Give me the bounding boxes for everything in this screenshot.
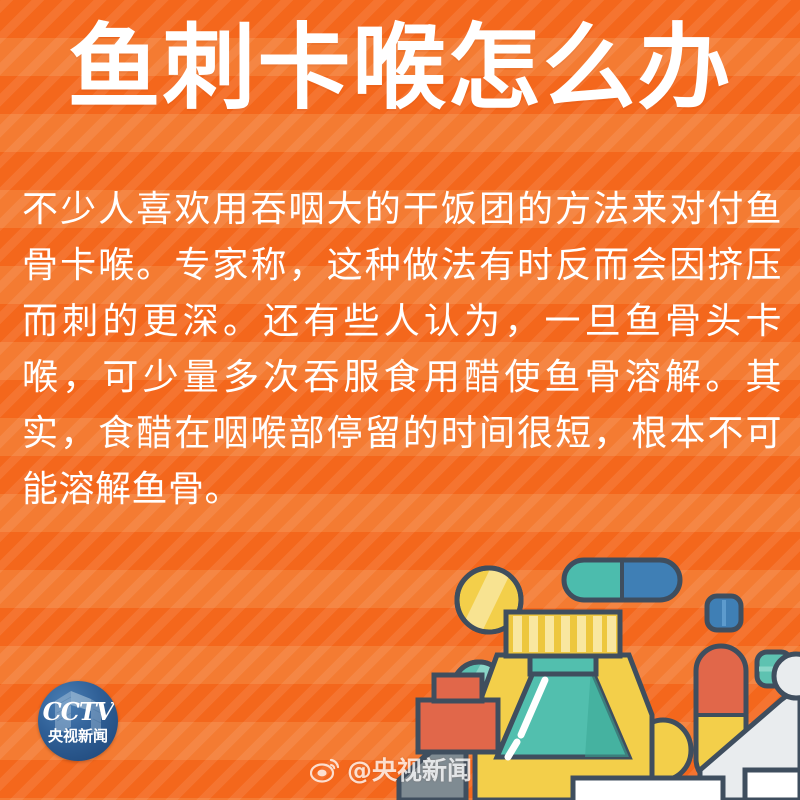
cctv-logo-en: CCTV — [43, 700, 114, 724]
tablet-square-blue — [707, 596, 741, 630]
body-paragraph: 不少人喜欢用吞咽大的干饭团的方法来对付鱼骨卡喉。专家称，这种做法有时反而会因挤压… — [22, 182, 782, 518]
weibo-handle: @央视新闻 — [347, 758, 472, 783]
cctv-logo: CCTV 央视新闻 — [38, 681, 118, 761]
capsule-teal-blue — [564, 560, 680, 600]
medicine-bottle-main — [475, 612, 723, 800]
body-text-block: 不少人喜欢用吞咽大的干饭团的方法来对付鱼骨卡喉。专家称，这种做法有时反而会因挤压… — [22, 182, 782, 518]
weibo-watermark: @央视新闻 — [310, 757, 472, 783]
headline-text: 鱼刺卡喉怎么办 — [68, 18, 733, 118]
cctv-logo-text: CCTV 央视新闻 — [38, 681, 118, 761]
cctv-logo-cn: 央视新闻 — [48, 729, 108, 744]
weibo-eye-icon — [310, 757, 340, 783]
poster-canvas: 鱼刺卡喉怎么办 不少人喜欢用吞咽大的干饭团的方法来对付鱼骨卡喉。专家称，这种做法… — [0, 0, 800, 800]
page-title: 鱼刺卡喉怎么办 — [0, 18, 800, 118]
